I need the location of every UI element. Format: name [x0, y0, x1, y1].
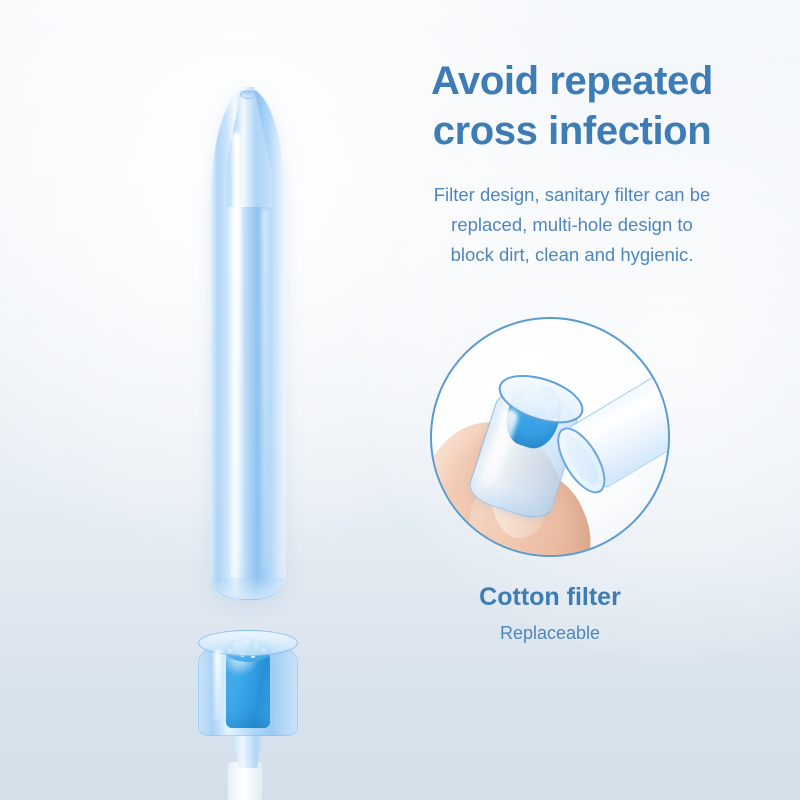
filter-cap-highlight [214, 650, 221, 720]
filter-cap-rim [198, 630, 298, 656]
nozzle-base-edge [211, 578, 285, 600]
description-line-3: block dirt, clean and hygienic. [372, 240, 772, 270]
description-line-1: Filter design, sanitary filter can be [372, 180, 772, 210]
nozzle-product-image [210, 88, 286, 600]
inset-caption-title: Cotton filter [400, 583, 700, 612]
inset-caption-subtitle: Replaceable [400, 623, 700, 644]
filter-cap-assembly-image [190, 636, 306, 800]
nozzle-tip-opening [240, 90, 256, 99]
headline-line-1: Avoid repeated [372, 56, 772, 106]
nozzle-highlight [232, 132, 241, 572]
nozzle-secondary-highlight [262, 208, 268, 568]
description-text: Filter design, sanitary filter can be re… [372, 180, 772, 270]
headline: Avoid repeated cross infection [372, 56, 772, 156]
headline-line-2: cross infection [372, 106, 772, 156]
product-feature-banner: Avoid repeated cross infection Filter de… [0, 0, 800, 800]
cotton-filter-inset-photo [430, 317, 670, 557]
description-line-2: replaced, multi-hole design to [372, 210, 772, 240]
